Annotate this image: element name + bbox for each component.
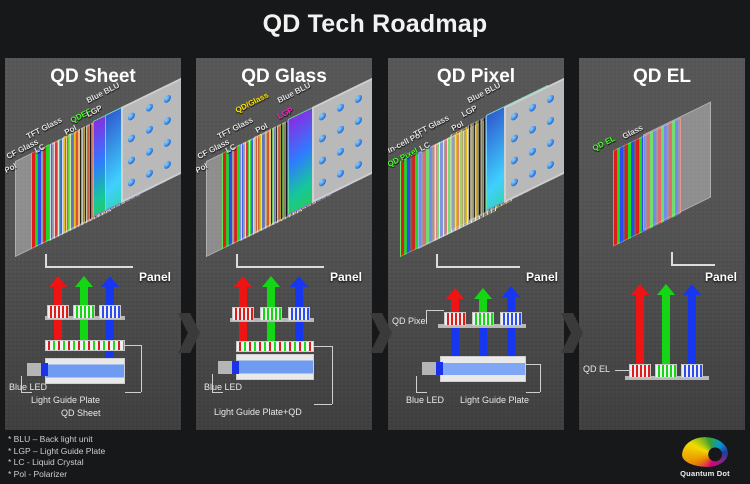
layer-blue-blu	[121, 77, 181, 203]
roadmap-board: QD Sheet Pol CF Glass LC TFT Glass Pol Q…	[0, 58, 750, 432]
lower-label-qd-el: QD EL	[583, 364, 610, 374]
stack-label-tft-glass: TFT Glass	[412, 113, 451, 139]
lower-label-blue-led: Blue LED	[406, 395, 444, 405]
light-path-diagram: QD EL	[579, 276, 745, 430]
panel-title: QD EL	[579, 66, 745, 88]
panel-qd-pixel[interactable]: QD Pixel QD Pixel In-cell Pol LC TFT Gla…	[388, 58, 564, 430]
panel-qd-el[interactable]: QD EL QD EL Glass Panel QD EL	[579, 58, 745, 430]
footnote-pol: * Pol - Polarizer	[8, 469, 105, 481]
exploded-stack-diagram: Pol CF Glass LC TFT Glass Pol QDEF LGP B…	[5, 88, 181, 278]
light-path-diagram: Blue LED Light Guide Plate QD Sheet	[5, 276, 181, 430]
footnotes: * BLU – Back light unit * LGP – Light Gu…	[8, 434, 105, 480]
panel-qd-glass[interactable]: QD Glass Pol CF Glass LC TFT Glass Pol Q…	[196, 58, 372, 430]
stack-label-tft-glass: TFT Glass	[216, 115, 255, 141]
exploded-stack-diagram: QD Pixel In-cell Pol LC TFT Glass Pol LG…	[388, 88, 564, 278]
brand-logo: Quantum Dot	[668, 437, 742, 478]
quantum-dot-logo-icon	[682, 437, 728, 467]
panel-qd-sheet[interactable]: QD Sheet Pol CF Glass LC TFT Glass Pol Q…	[5, 58, 181, 430]
stack-label-tft-glass: TFT Glass	[25, 115, 64, 141]
footnote-lgp: * LGP – Light Guide Plate	[8, 446, 105, 458]
layer-blue-blu	[504, 77, 564, 203]
light-path-diagram: Blue LED Light Guide Plate+QD	[196, 276, 372, 430]
layer-blue-blu	[312, 77, 372, 203]
lower-label-qd-sheet: QD Sheet	[61, 408, 101, 418]
exploded-stack-diagram: Pol CF Glass LC TFT Glass Pol QD/Glass L…	[196, 88, 372, 278]
panel-title: QD Glass	[196, 66, 372, 88]
stack-label-qd-glass: QD/Glass	[234, 91, 270, 115]
lower-label-qd-pixel: QD Pixel	[392, 316, 428, 326]
lower-label-blue-led: Blue LED	[9, 382, 47, 392]
lower-label-lgp-qd: Light Guide Plate+QD	[214, 407, 302, 417]
page-title: QD Tech Roadmap	[0, 10, 750, 39]
lower-label-lgp: Light Guide Plate	[460, 395, 529, 405]
lower-label-blue-led: Blue LED	[204, 382, 242, 392]
brand-name: Quantum Dot	[668, 469, 742, 478]
layer-glass	[643, 101, 711, 230]
panel-title: QD Sheet	[5, 66, 181, 88]
light-path-diagram: QD Pixel Blue LED Light Guide Plate	[388, 276, 564, 430]
exploded-stack-diagram: QD EL Glass Panel	[579, 88, 745, 278]
stack-label-lgp: LGP	[460, 104, 479, 119]
footnote-lc: * LC - Liquid Crystal	[8, 457, 105, 469]
lower-label-lgp: Light Guide Plate	[31, 395, 100, 405]
panel-title: QD Pixel	[388, 66, 564, 88]
footnote-blu: * BLU – Back light unit	[8, 434, 105, 446]
